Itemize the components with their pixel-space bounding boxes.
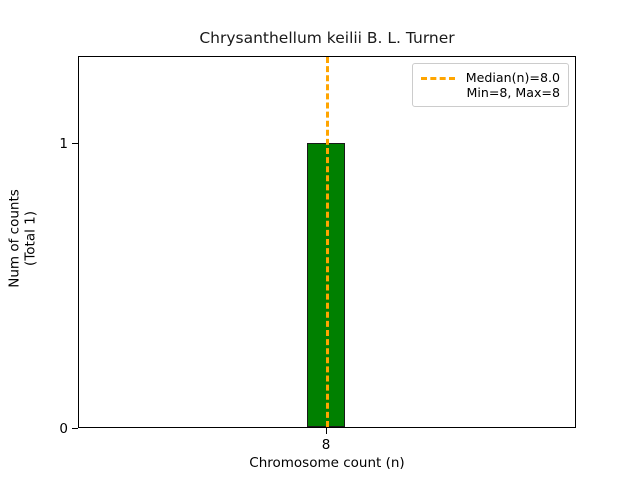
- plot-area: [78, 56, 576, 428]
- median-line: [326, 57, 329, 427]
- y-tick-label-0: 0: [59, 421, 68, 437]
- chart-figure: Chrysanthellum keilii B. L. Turner Num o…: [0, 0, 640, 480]
- legend-label-minmax: Min=8, Max=8: [463, 85, 560, 100]
- x-tick-label-8: 8: [306, 437, 346, 453]
- legend: Median(n)=8.0 Min=8, Max=8: [412, 63, 569, 107]
- legend-label-median: Median(n)=8.0: [463, 70, 560, 85]
- legend-item-median: Median(n)=8.0: [421, 70, 560, 85]
- y-axis-label-container: Num of counts (Total 1): [0, 0, 46, 480]
- plot-inner: [79, 57, 575, 427]
- page-title: Chrysanthellum keilii B. L. Turner: [78, 29, 576, 47]
- dashed-line-icon: [421, 72, 455, 84]
- y-tick-mark-0: [72, 428, 78, 429]
- legend-item-minmax: Min=8, Max=8: [421, 85, 560, 100]
- x-tick-mark-8: [326, 428, 327, 434]
- legend-spacer: [421, 87, 455, 99]
- y-tick-label-1: 1: [59, 136, 68, 152]
- y-axis-label: Num of counts (Total 1): [7, 13, 40, 463]
- x-axis-label: Chromosome count (n): [78, 455, 576, 471]
